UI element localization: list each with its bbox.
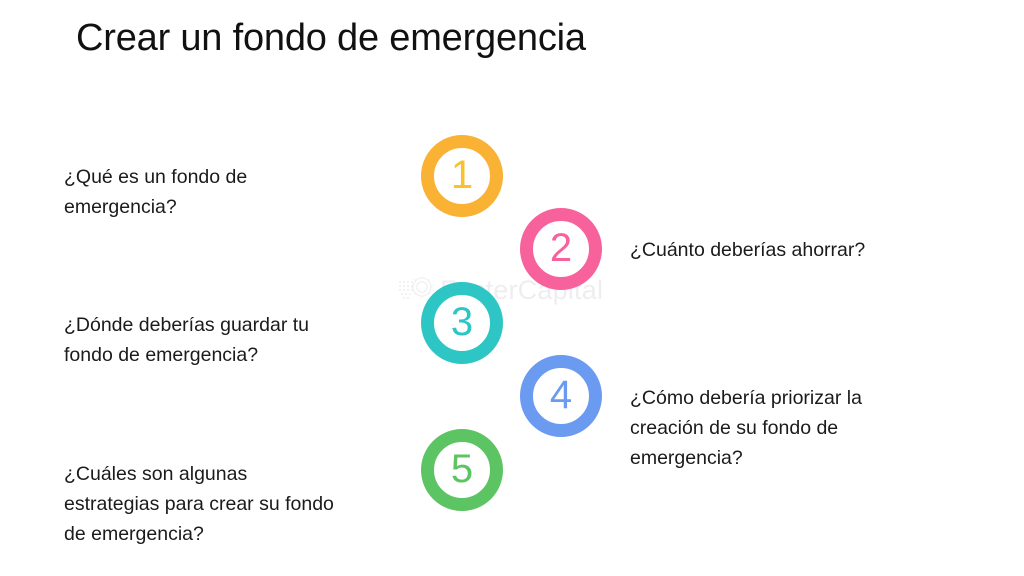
step-marker-4: 4 [520,355,602,437]
step-marker-1: 1 [421,135,503,217]
step-number-2: 2 [550,228,572,268]
step-marker-5: 5 [421,429,503,511]
step-caption-1: ¿Qué es un fondo de emergencia? [64,162,364,222]
step-marker-3: 3 [421,282,503,364]
step-number-3: 3 [451,302,473,342]
step-number-5: 5 [451,449,473,489]
step-caption-2: ¿Cuánto deberías ahorrar? [630,235,950,265]
page-title: Crear un fondo de emergencia [76,14,586,62]
step-caption-5: ¿Cuáles son algunas estrategias para cre… [64,459,404,549]
step-marker-2: 2 [520,208,602,290]
step-caption-4: ¿Cómo debería priorizar la creación de s… [630,383,930,473]
step-number-4: 4 [550,375,572,415]
slide-canvas: Crear un fondo de emergencia [0,0,1024,576]
step-number-1: 1 [451,155,473,195]
step-caption-3: ¿Dónde deberías guardar tu fondo de emer… [64,310,384,370]
